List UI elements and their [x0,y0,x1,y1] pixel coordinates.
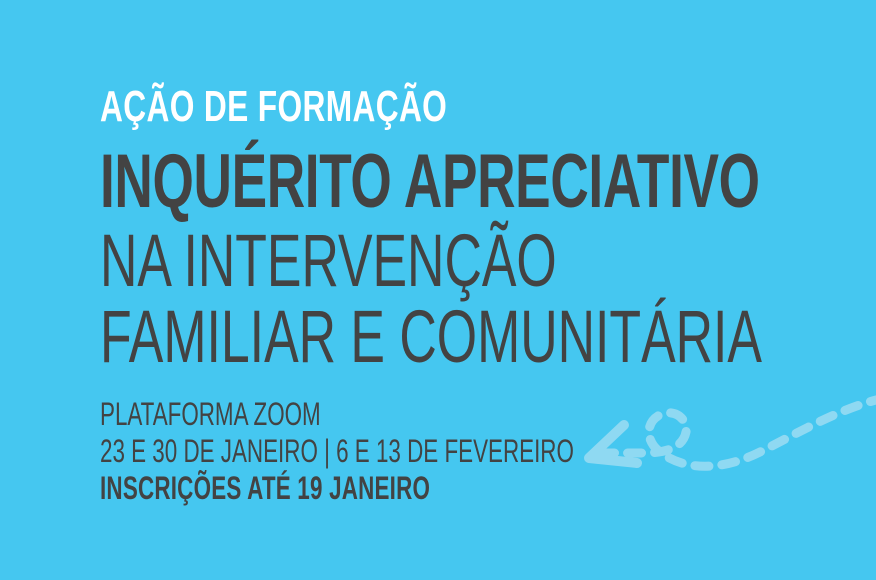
detail-platform: PLATAFORMA ZOOM [100,396,604,433]
promo-poster: AÇÃO DE FORMAÇÃO INQUÉRITO APRECIATIVO N… [0,0,876,580]
poster-title-line-3: FAMILIAR E COMUNITÁRIA [100,300,604,374]
poster-details: PLATAFORMA ZOOM 23 E 30 DE JANEIRO | 6 E… [100,396,820,507]
poster-eyebrow: AÇÃO DE FORMAÇÃO [100,84,618,130]
detail-dates: 23 E 30 DE JANEIRO | 6 E 13 DE FEVEREIRO [100,433,604,470]
poster-content: AÇÃO DE FORMAÇÃO INQUÉRITO APRECIATIVO N… [100,84,820,507]
poster-title-line-1: INQUÉRITO APRECIATIVO [100,144,604,220]
poster-title-line-2: NA INTERVENÇÃO [100,224,604,298]
detail-registration-deadline: INSCRIÇÕES ATÉ 19 JANEIRO [100,470,604,507]
